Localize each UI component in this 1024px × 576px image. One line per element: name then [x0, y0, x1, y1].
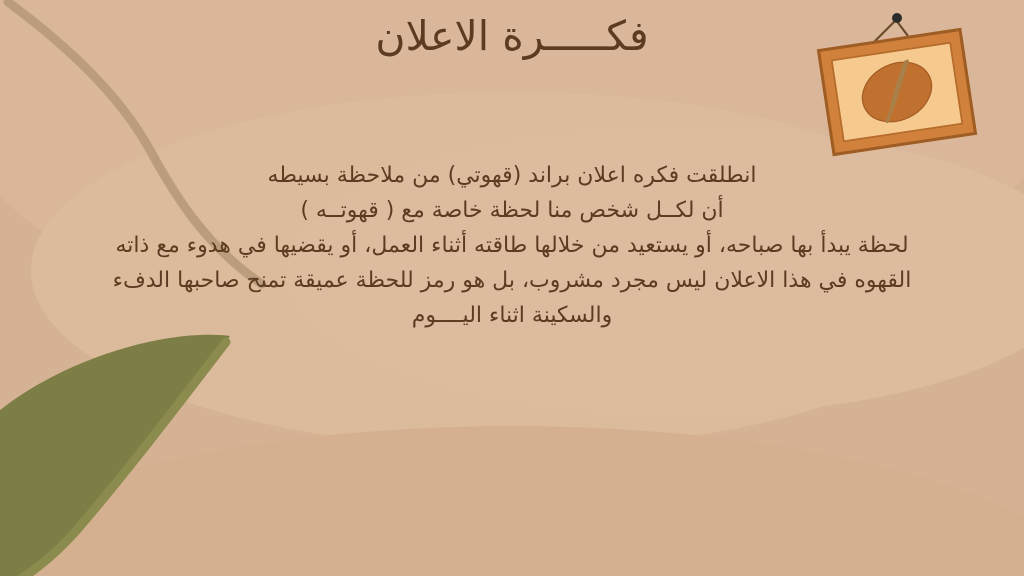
picture-frame-mat	[830, 41, 963, 142]
presentation-slide: فكـــــرة الاعلان انطلقت فكره اعلان بران…	[0, 0, 1024, 576]
framed-picture	[818, 30, 978, 155]
body-line-4: القهوه في هذا الاعلان ليس مجرد مشروب، بل…	[24, 263, 1000, 298]
coffee-bean-icon	[851, 50, 943, 135]
coffee-leaf-icon	[0, 330, 250, 576]
body-line-3: لحظة يبدأ بها صباحه، أو يستعيد من خلالها…	[24, 228, 1000, 263]
body-paragraph: انطلقت فكره اعلان براند (قهوتي) من ملاحظ…	[0, 158, 1024, 333]
body-line-5: والسكينة اثناء اليــــوم	[24, 298, 1000, 333]
body-line-1: انطلقت فكره اعلان براند (قهوتي) من ملاحظ…	[24, 158, 1000, 193]
picture-frame-border	[817, 28, 977, 156]
body-line-2: أن لكــل شخص منا لحظة خاصة مع ( قهوتــه …	[24, 193, 1000, 228]
